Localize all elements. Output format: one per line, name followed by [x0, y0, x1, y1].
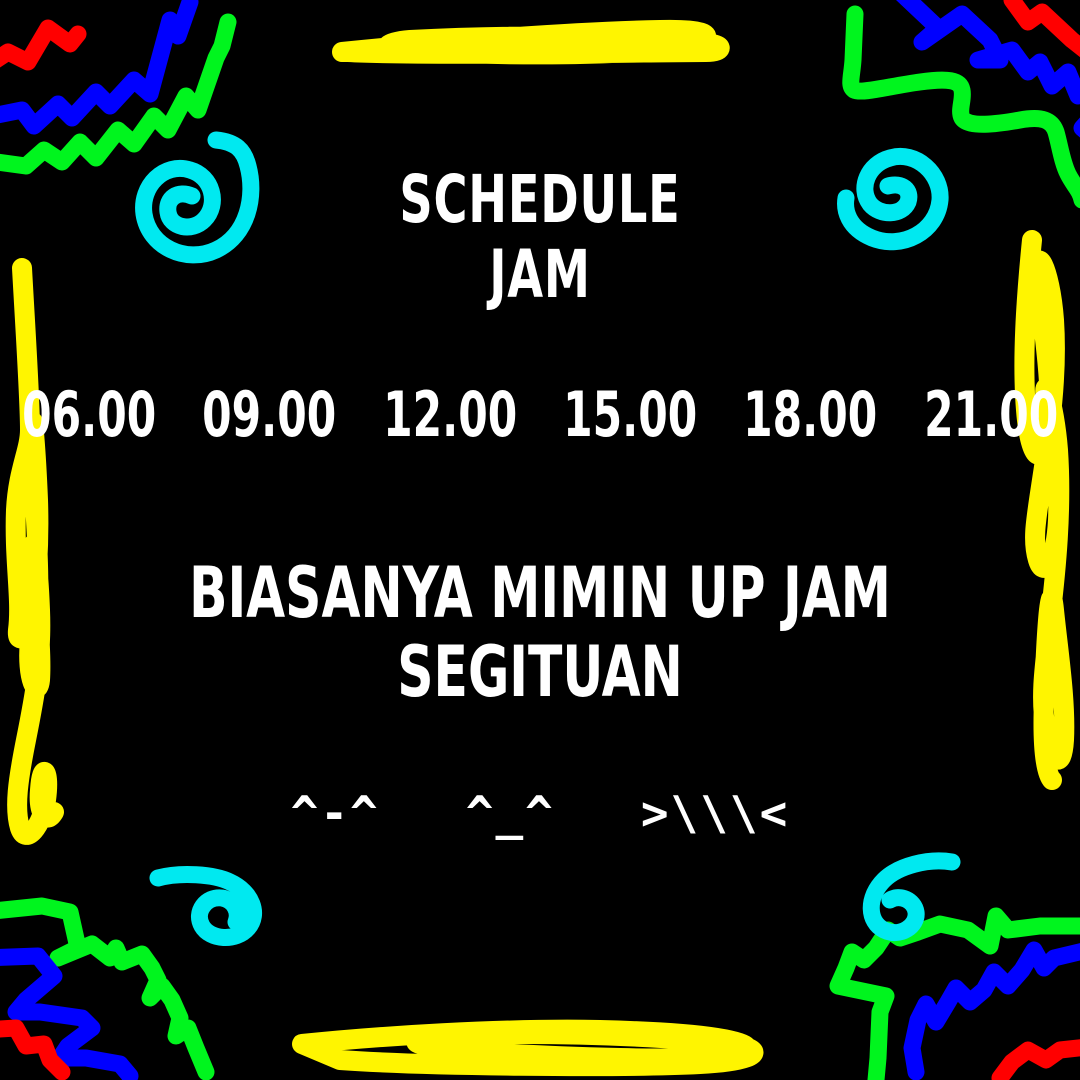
title-line-2: JAM [119, 243, 961, 308]
schedule-time-1: 06.00 [20, 378, 157, 451]
emoticon-2: ^_^ [466, 786, 555, 840]
page-title: SCHEDULE JAM [0, 168, 1080, 307]
schedule-time-5: 18.00 [742, 378, 879, 451]
schedule-time-6: 21.00 [923, 378, 1060, 451]
title-line-1: SCHEDULE [119, 168, 961, 233]
message-line-1: BIASANYA MIMIN UP JAM [108, 558, 972, 629]
emoticon-1: ^-^ [291, 786, 380, 840]
schedule-times-row: 06.00 09.00 12.00 15.00 18.00 21.00 [0, 378, 1080, 451]
schedule-time-3: 12.00 [381, 378, 518, 451]
schedule-time-4: 15.00 [562, 378, 699, 451]
message-line-2: SEGITUAN [108, 637, 972, 708]
emoticon-row: ^-^ ^_^ >\\\< [0, 786, 1080, 840]
poster-canvas: SCHEDULE JAM 06.00 09.00 12.00 15.00 18.… [0, 0, 1080, 1080]
emoticon-3: >\\\< [641, 786, 789, 840]
schedule-time-2: 09.00 [201, 378, 338, 451]
message-text: BIASANYA MIMIN UP JAM SEGITUAN [0, 558, 1080, 709]
poster-content: SCHEDULE JAM 06.00 09.00 12.00 15.00 18.… [0, 0, 1080, 1080]
